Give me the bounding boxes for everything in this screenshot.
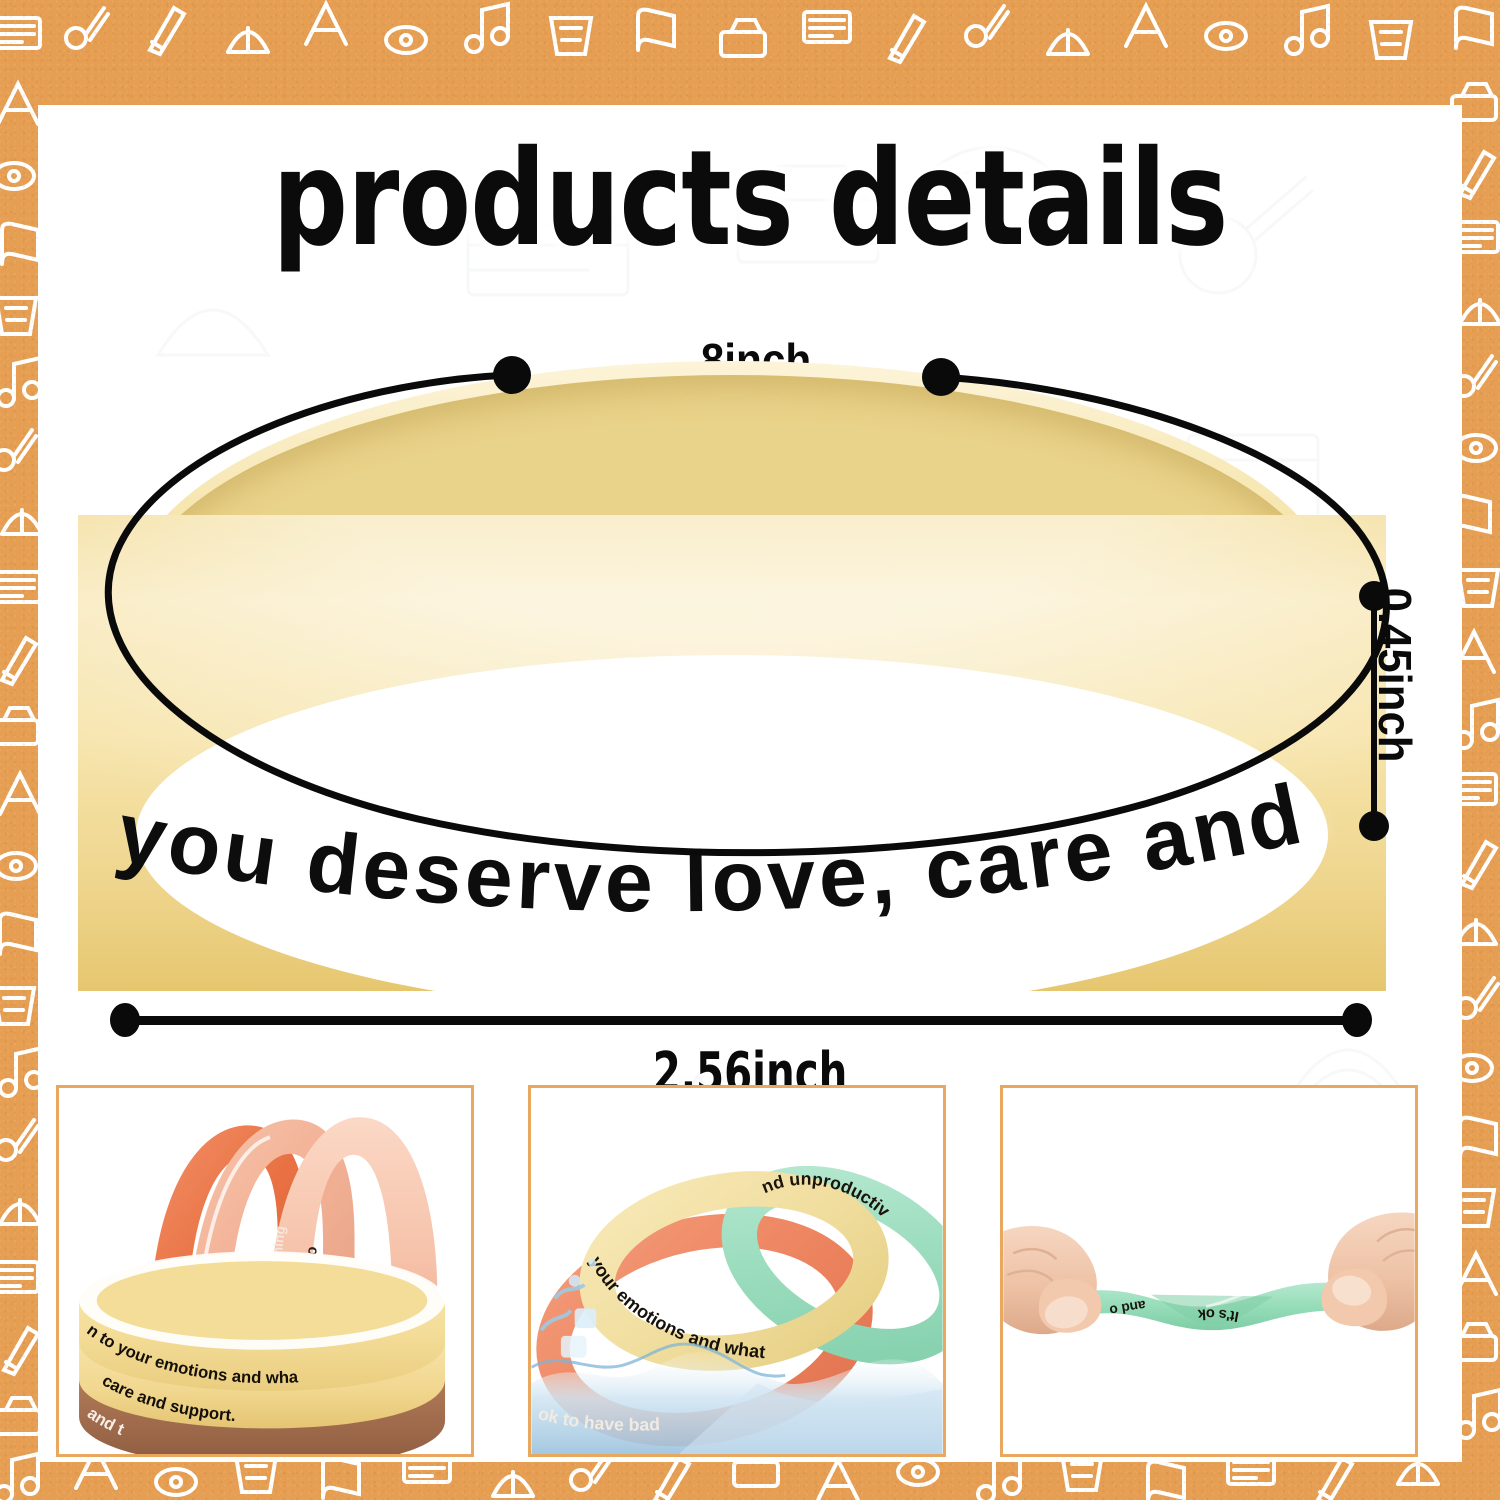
dimension-label-width: 0.45inch — [1368, 588, 1422, 763]
circumference-measure-ellipse — [38, 223, 1462, 1063]
hero-product-figure: 8inch you deserve love, care and — [38, 223, 1462, 1063]
panel3-band-text-2: It's ok — [1197, 1305, 1241, 1324]
panel-durable-and-strechale[interactable]: and o It's ok — [1000, 1085, 1418, 1457]
panel-waterproof[interactable]: nd unproductiv your emotions and what — [528, 1085, 946, 1457]
measure-dot-right — [922, 358, 960, 396]
caliper-horizontal-diameter — [110, 1003, 1372, 1037]
content-card: products details 8inch you deserve love,… — [38, 105, 1462, 1462]
stacked-bracelets-photo: you see in o re the only thing — [59, 1088, 471, 1454]
feature-panels: you see in o re the only thing — [38, 1085, 1462, 1462]
measure-dot-left — [493, 356, 531, 394]
infographic-page: products details 8inch you deserve love,… — [0, 0, 1500, 1500]
svg-text:It's ok: It's ok — [1197, 1305, 1241, 1324]
page-title: products details — [180, 133, 1319, 265]
stretch-demo-photo: and o It's ok — [1003, 1088, 1415, 1454]
panel-silicone-material[interactable]: you see in o re the only thing — [56, 1085, 474, 1457]
waterproof-photo: nd unproductiv your emotions and what — [531, 1088, 943, 1454]
